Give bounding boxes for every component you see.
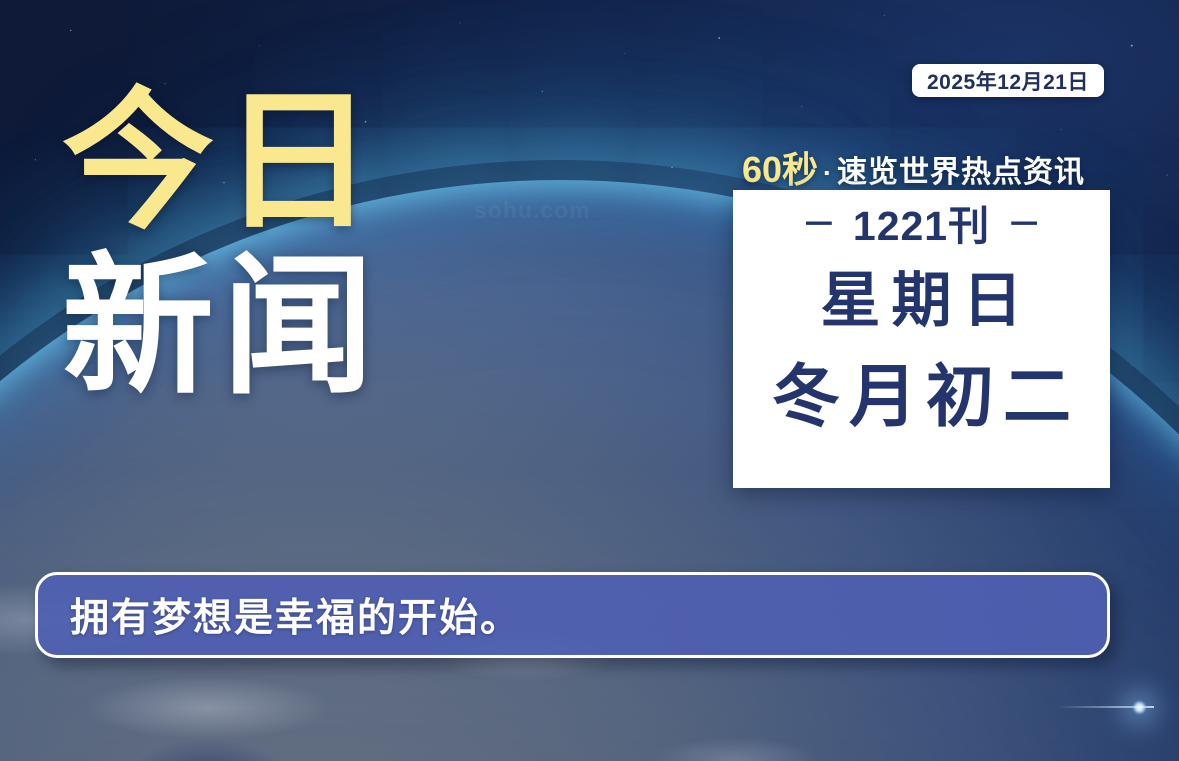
quote-bar: 拥有梦想是幸福的开始。 [35,572,1110,658]
source-watermark: sohu.com [474,197,591,224]
weekday-label: 星期日 [810,271,1034,331]
info-card: － 1221刊 － 星期日 冬月初二 [733,190,1110,488]
date-badge: 2025年12月21日 [912,64,1104,97]
lunar-date-label: 冬月初二 [763,363,1080,431]
issue-dash-left: － [802,208,836,242]
page-title: 今日 新闻 [62,88,382,402]
quote-text: 拥有梦想是幸福的开始。 [70,587,521,643]
tagline-description: 速览世界热点资讯 [837,147,1085,191]
tagline-separator: · [823,158,832,189]
issue-row: － 1221刊 － [802,206,1041,247]
issue-number: 1221刊 [853,206,990,247]
issue-dash-right: － [1007,208,1041,242]
date-badge-label: 2025年12月21日 [927,66,1089,96]
title-line-xinwen: 新闻 [62,253,382,402]
poster-canvas: 今日 新闻 sohu.com 2025年12月21日 60秒 · 速览世界热点资… [0,0,1179,761]
tagline: 60秒 · 速览世界热点资讯 [742,141,1085,193]
title-line-jinri: 今日 [62,88,382,237]
tagline-seconds: 60秒 [742,141,818,193]
